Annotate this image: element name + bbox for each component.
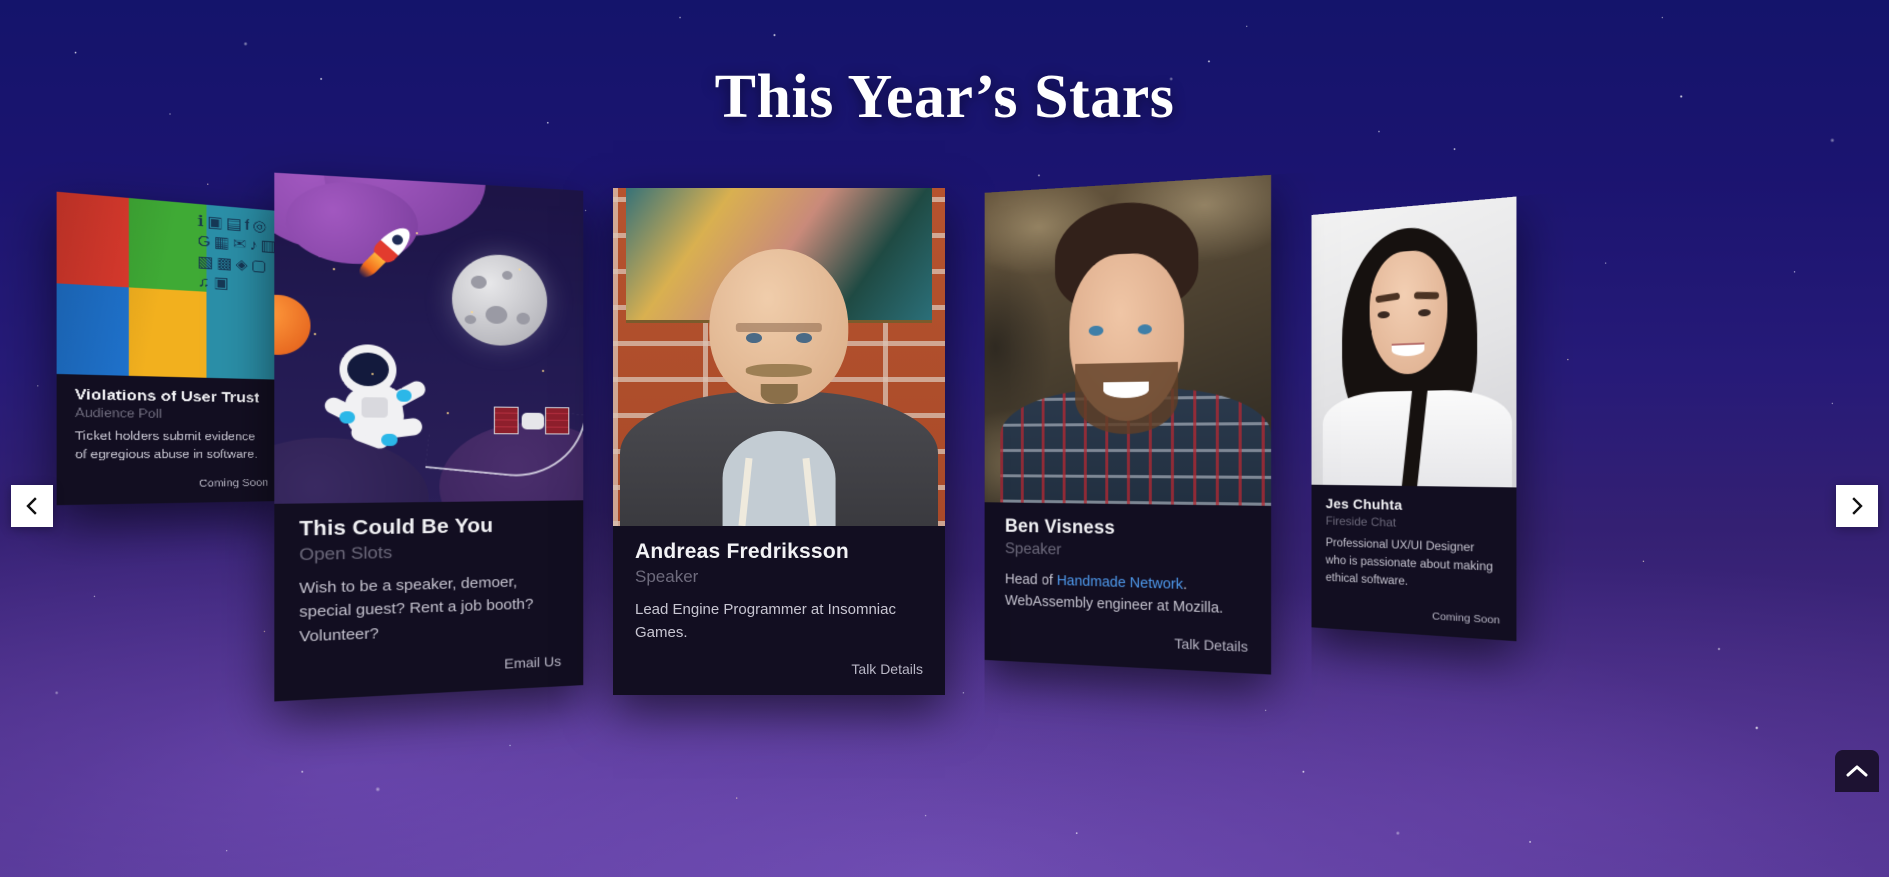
card-description: Wish to be a speaker, demoer, special gu…	[299, 570, 561, 649]
card-action-link[interactable]: Talk Details	[1005, 628, 1248, 655]
card-action-link[interactable]: Email Us	[299, 653, 561, 681]
chevron-left-icon	[22, 496, 42, 516]
speaker-carousel[interactable]: ℹ▣▤f◎G▦✉♪▥▧▩◈▢♫▣ Violations of User Trus…	[0, 150, 1889, 750]
card-action-link[interactable]: Coming Soon	[75, 477, 268, 491]
planet-icon	[274, 294, 310, 356]
card-media	[274, 173, 583, 504]
card-role: Fireside Chat	[1326, 514, 1500, 533]
astronaut-space-illustration	[274, 173, 583, 504]
card-title: Jes Chuhta	[1326, 496, 1500, 516]
carousel-next-button[interactable]	[1836, 485, 1878, 527]
chevron-right-icon	[1847, 496, 1867, 516]
carousel-card[interactable]: Jes Chuhta Fireside Chat Professional UX…	[1311, 196, 1516, 641]
card-body: Violations of User Trust Audience Poll T…	[57, 374, 285, 505]
astronaut-icon	[331, 344, 448, 456]
page-title: This Year’s Stars	[0, 62, 1889, 133]
moon-icon	[452, 253, 547, 347]
card-title: Andreas Fredriksson	[635, 540, 923, 564]
portrait-photo-jes	[1311, 196, 1516, 487]
card-media	[613, 188, 945, 526]
social-icons-pattern: ℹ▣▤f◎G▦✉♪▥▧▩◈▢♫▣	[193, 204, 284, 380]
card-body: This Could Be You Open Slots Wish to be …	[274, 500, 583, 701]
card-action-link[interactable]: Talk Details	[635, 661, 923, 677]
desc-text-after: . WebAssembly engineer at Mozilla.	[1005, 577, 1223, 618]
card-media	[985, 175, 1272, 506]
desc-text-before: Head of	[1005, 572, 1057, 589]
satellite-icon	[494, 405, 569, 439]
portrait-photo-ben	[985, 175, 1272, 506]
social-media-collage-graphic: ℹ▣▤f◎G▦✉♪▥▧▩◈▢♫▣	[57, 192, 285, 380]
carousel-card[interactable]: This Could Be You Open Slots Wish to be …	[274, 173, 583, 702]
card-title: Violations of User Trust	[75, 386, 268, 406]
card-title: Ben Visness	[1005, 516, 1248, 543]
carousel-card[interactable]: ℹ▣▤f◎G▦✉♪▥▧▩◈▢♫▣ Violations of User Trus…	[57, 192, 285, 505]
portrait-photo-andreas	[613, 188, 945, 526]
card-description: Professional UX/UI Designer who is passi…	[1326, 535, 1500, 596]
carousel-prev-button[interactable]	[11, 485, 53, 527]
carousel-card[interactable]: Ben Visness Speaker Head of Handmade Net…	[985, 175, 1272, 675]
card-role: Speaker	[1005, 540, 1248, 564]
card-title: This Could Be You	[299, 514, 561, 541]
card-role: Audience Poll	[75, 405, 268, 421]
chevron-up-icon	[1846, 764, 1868, 778]
card-role: Open Slots	[299, 539, 561, 565]
handmade-network-link[interactable]: Handmade Network	[1057, 573, 1183, 593]
card-role: Speaker	[635, 567, 923, 587]
card-body: Ben Visness Speaker Head of Handmade Net…	[985, 502, 1272, 674]
scroll-to-top-button[interactable]	[1835, 750, 1879, 792]
card-media	[1311, 196, 1516, 487]
card-action-link[interactable]: Coming Soon	[1326, 604, 1500, 627]
card-description: Head of Handmade Network. WebAssembly en…	[1005, 569, 1248, 622]
card-description: Ticket holders submit evidence of egregi…	[75, 428, 268, 465]
card-body: Andreas Fredriksson Speaker Lead Engine …	[613, 526, 945, 695]
card-body: Jes Chuhta Fireside Chat Professional UX…	[1311, 485, 1516, 642]
card-media: ℹ▣▤f◎G▦✉♪▥▧▩◈▢♫▣	[57, 192, 285, 380]
carousel-card-active[interactable]: Andreas Fredriksson Speaker Lead Engine …	[613, 188, 945, 695]
card-description: Lead Engine Programmer at Insomniac Game…	[635, 598, 923, 645]
